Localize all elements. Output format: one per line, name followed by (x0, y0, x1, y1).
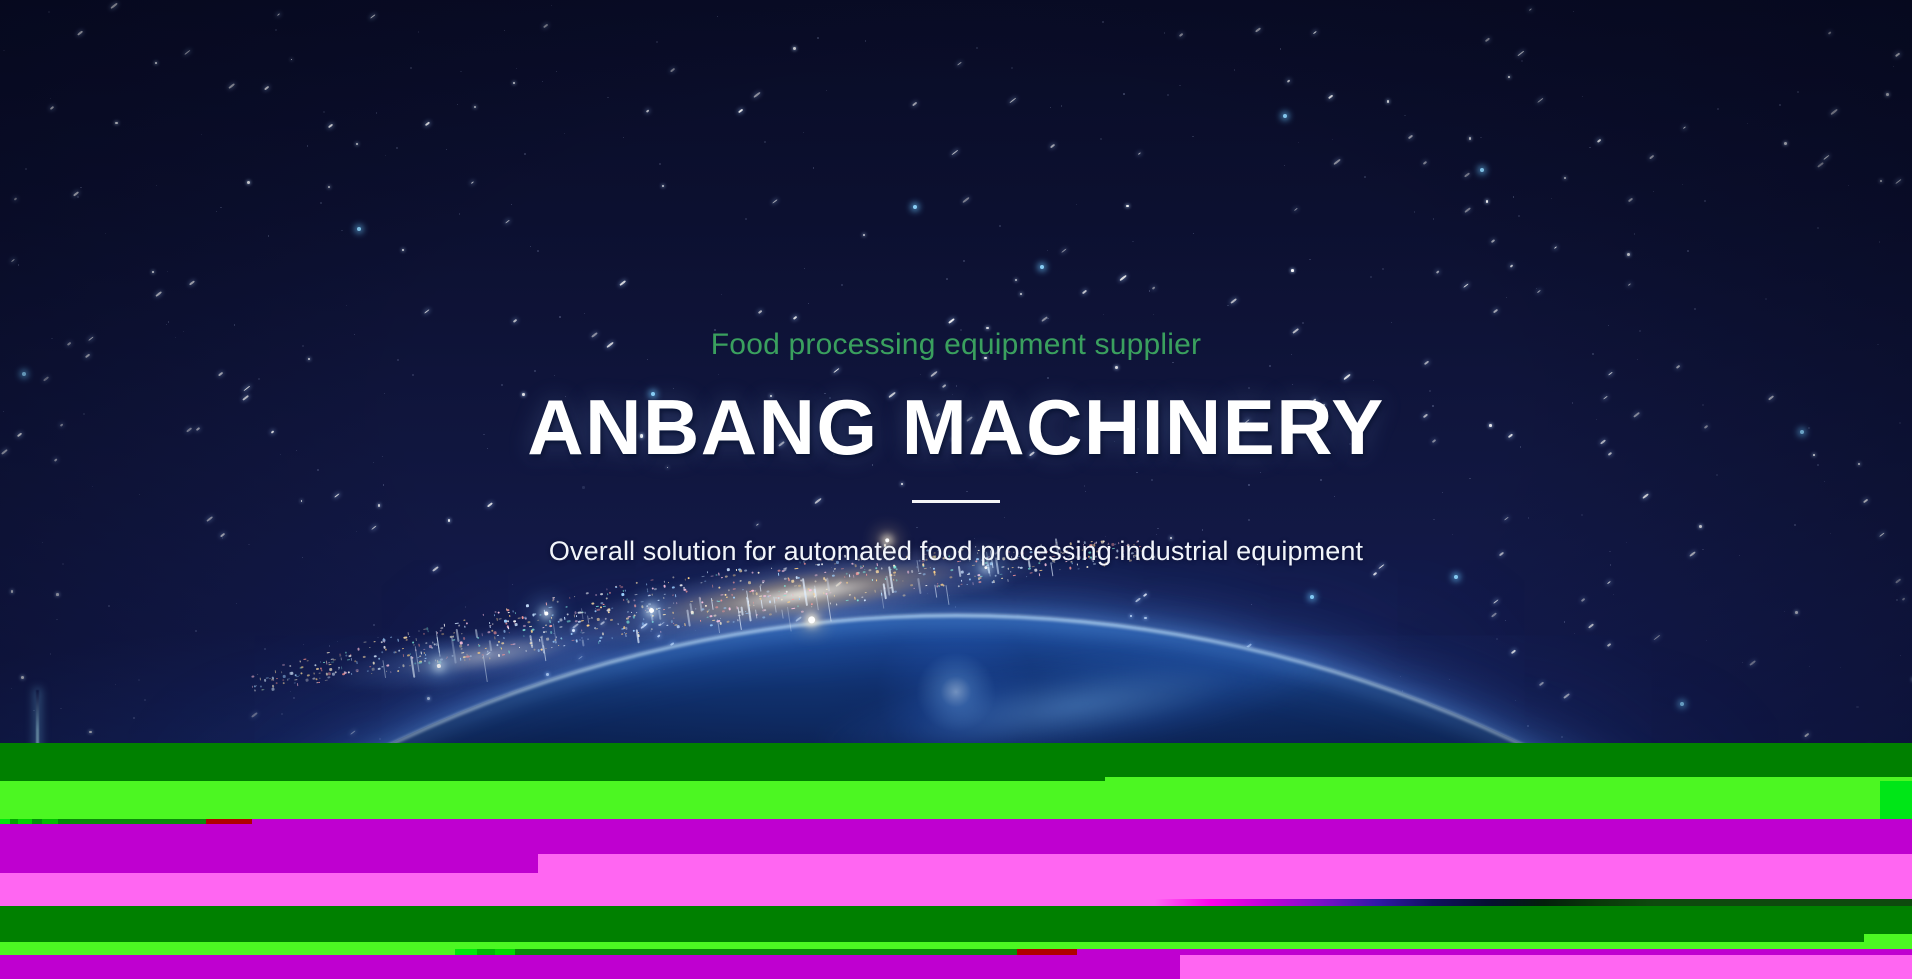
city-light (466, 622, 468, 624)
city-light (829, 602, 830, 604)
city-light (519, 646, 520, 648)
city-light (831, 574, 834, 577)
band-magenta-1 (0, 873, 1912, 899)
city-flare (437, 664, 441, 668)
city-light (788, 578, 790, 581)
city-light (432, 642, 434, 644)
city-light (846, 572, 848, 574)
city-light (559, 618, 563, 621)
city-light (550, 617, 551, 620)
city-light (664, 585, 666, 588)
city-light (839, 582, 840, 584)
city-light (276, 682, 278, 684)
city-light (546, 637, 549, 640)
city-light (717, 600, 719, 603)
city-light (489, 625, 491, 628)
city-light (911, 570, 913, 573)
city-light (552, 641, 554, 643)
city-light (487, 651, 489, 653)
city-light (586, 624, 589, 626)
city-light (798, 577, 800, 579)
city-light (254, 689, 255, 692)
city-light (1059, 569, 1060, 571)
city-light (651, 594, 652, 596)
city-light (378, 667, 381, 670)
city-light (720, 617, 721, 618)
city-light (704, 580, 706, 582)
city-light (676, 602, 678, 604)
city-light (481, 634, 482, 636)
city-light (1034, 569, 1038, 572)
city-light (725, 593, 727, 596)
city-light (612, 637, 613, 639)
city-light (728, 607, 730, 610)
city-light (923, 573, 926, 576)
city-light (709, 624, 712, 627)
city-light (712, 585, 713, 588)
city-light (784, 577, 787, 580)
city-light (601, 633, 603, 636)
city-light (384, 649, 386, 651)
band-dark-green-2b (0, 934, 1912, 942)
city-light (673, 602, 674, 603)
glitch-segment (1655, 899, 1912, 906)
city-light (648, 603, 651, 605)
band-magenta-scan (0, 899, 1912, 906)
city-light (272, 688, 275, 691)
city-light (716, 606, 719, 608)
city-light (351, 673, 352, 674)
city-light (576, 615, 578, 618)
glitch-segment (1880, 781, 1912, 819)
city-light (907, 571, 910, 574)
city-light (762, 609, 765, 612)
city-light (494, 637, 496, 640)
hero-eyebrow: Food processing equipment supplier (0, 330, 1912, 360)
city-light (607, 608, 610, 610)
city-light (795, 576, 797, 578)
city-light (673, 617, 674, 619)
city-light (605, 597, 607, 599)
city-light (623, 599, 624, 601)
city-light (780, 598, 783, 600)
city-light (546, 648, 547, 649)
city-light (811, 606, 813, 607)
city-light (525, 649, 526, 651)
city-light (677, 625, 680, 628)
glitch-segment (1864, 934, 1912, 942)
city-light (383, 640, 384, 643)
city-light (695, 608, 696, 609)
city-light (459, 645, 462, 648)
city-light (470, 655, 472, 658)
city-light (762, 616, 765, 618)
city-light (620, 586, 623, 589)
glitch-segment (1180, 955, 1912, 979)
city-light (464, 659, 466, 661)
city-light (523, 636, 524, 638)
city-light (881, 567, 882, 569)
city-light (596, 617, 599, 620)
city-light (378, 658, 380, 660)
city-light (500, 647, 501, 649)
band-dark-green-2 (0, 906, 1912, 934)
city-light (777, 573, 779, 576)
city-light (335, 671, 337, 673)
gradient-scanline (1155, 899, 1655, 906)
city-light (829, 592, 831, 594)
city-light (515, 623, 518, 626)
city-light (550, 631, 552, 634)
city-light (623, 590, 624, 592)
city-light (321, 669, 322, 671)
city-light (348, 671, 350, 674)
hero-tagline: Overall solution for automated food proc… (0, 535, 1912, 567)
city-light (621, 633, 623, 635)
glitch-segment (1105, 743, 1912, 777)
city-light (383, 638, 384, 639)
city-light (257, 673, 259, 674)
city-light (644, 610, 645, 611)
city-light (727, 568, 730, 571)
city-light (282, 682, 284, 684)
glitch-segment (538, 854, 1912, 873)
city-light (605, 617, 607, 619)
city-light (856, 572, 860, 575)
city-light (864, 568, 865, 569)
lower-purple (0, 955, 1912, 979)
city-light (294, 674, 297, 677)
city-light (282, 679, 284, 682)
city-light (487, 631, 490, 634)
city-light (933, 571, 936, 574)
city-light (402, 654, 404, 657)
title-divider (912, 500, 1000, 503)
city-light (776, 599, 777, 600)
city-light (748, 581, 752, 584)
band-dark-green-1 (0, 743, 1912, 777)
city-light (823, 592, 825, 594)
city-light (798, 598, 800, 601)
page-title: ANBANG MACHINERY (0, 388, 1912, 466)
city-light (403, 664, 405, 667)
city-light (501, 647, 502, 649)
city-light (752, 592, 753, 595)
hero-banner: Food processing equipment supplier ANBAN… (0, 0, 1912, 979)
city-light (1007, 567, 1008, 569)
city-light (431, 647, 433, 649)
city-light (671, 620, 673, 623)
city-light (558, 645, 559, 646)
city-light (633, 616, 635, 619)
city-light (608, 592, 611, 594)
city-light (428, 662, 430, 665)
city-light (424, 654, 425, 656)
city-light (733, 596, 735, 598)
city-light (460, 648, 462, 650)
city-light (287, 679, 289, 681)
band-purple-1 (0, 824, 1912, 854)
city-light (675, 595, 676, 598)
city-light (415, 638, 416, 640)
city-light (325, 673, 327, 676)
city-light (371, 668, 375, 671)
city-light (910, 584, 912, 586)
city-light (810, 603, 812, 605)
city-light (995, 575, 997, 577)
city-light (372, 661, 374, 664)
corrupted-scanline-bands (0, 743, 1912, 979)
city-light (627, 611, 629, 613)
city-light (753, 601, 754, 603)
city-light (264, 679, 266, 682)
city-light (623, 626, 625, 629)
city-light (407, 654, 410, 656)
city-light (259, 677, 261, 680)
city-light (978, 581, 981, 584)
city-light (573, 615, 575, 618)
city-light (769, 601, 771, 604)
city-light (641, 605, 644, 608)
city-light (319, 681, 320, 682)
city-light (624, 589, 626, 591)
city-light (708, 609, 710, 611)
city-light (498, 654, 501, 657)
hero-text-block: Food processing equipment supplier ANBAN… (0, 330, 1912, 567)
city-light (626, 621, 629, 624)
city-light (460, 658, 461, 660)
city-light (778, 590, 779, 592)
city-light (358, 648, 360, 651)
city-light (509, 615, 510, 617)
city-light (875, 579, 876, 581)
city-light (276, 678, 278, 679)
city-light (398, 649, 401, 651)
band-purple-2 (0, 854, 1912, 873)
city-light (526, 604, 529, 607)
city-light (503, 637, 505, 639)
band-bright-green-2 (0, 781, 1912, 819)
city-light (1007, 579, 1009, 582)
city-light (493, 631, 497, 634)
city-light (654, 588, 657, 590)
city-light (706, 571, 708, 574)
city-light (508, 651, 510, 654)
city-light (381, 651, 384, 653)
city-light (738, 568, 741, 571)
city-light (362, 655, 365, 658)
city-light (381, 641, 383, 643)
city-light (833, 570, 834, 571)
city-light (462, 637, 465, 640)
city-light (390, 671, 391, 673)
city-light (1026, 576, 1027, 577)
city-light (435, 659, 436, 661)
city-light (534, 648, 536, 650)
city-light (356, 661, 358, 664)
city-light (297, 683, 299, 686)
